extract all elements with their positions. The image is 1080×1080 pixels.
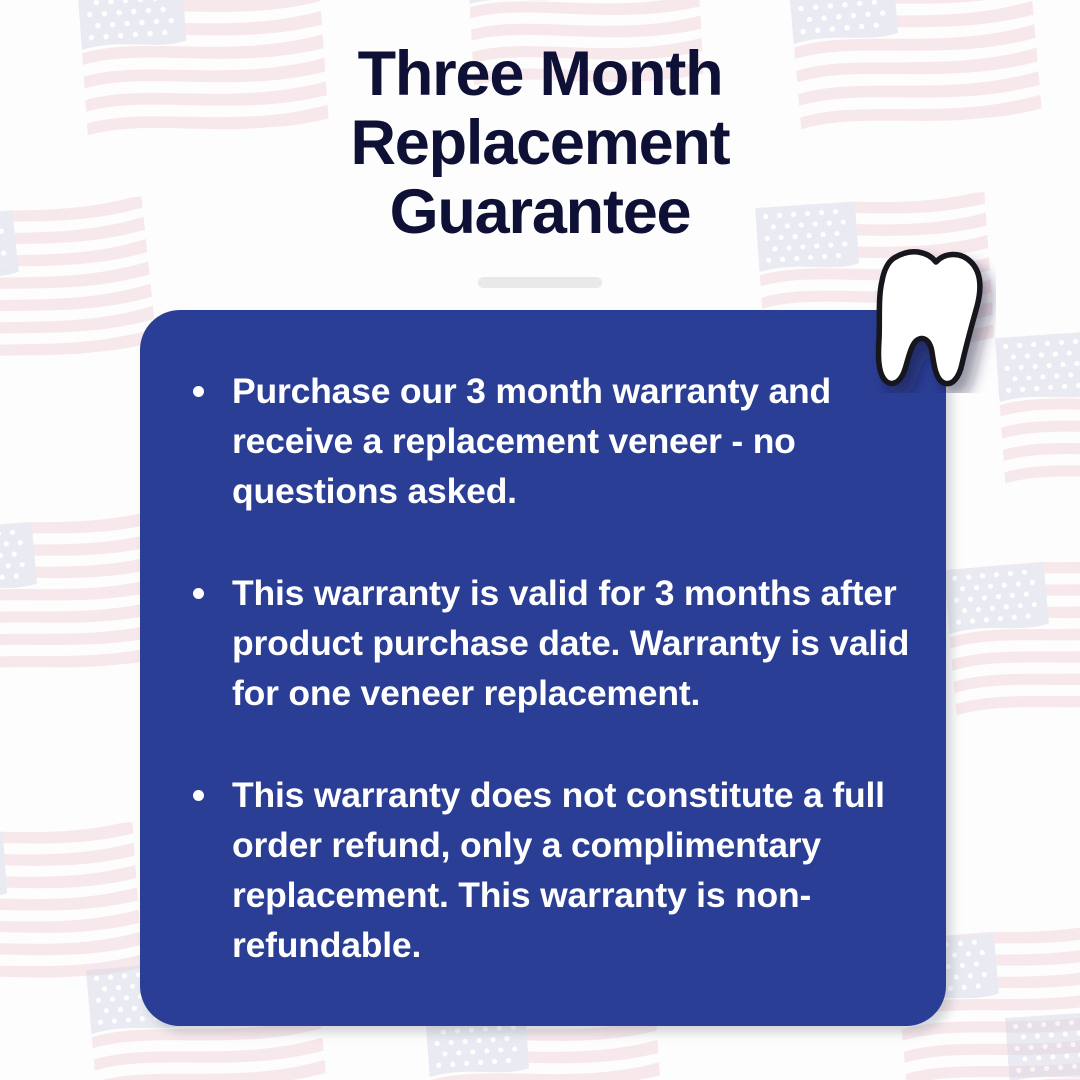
title-line-3: Guarantee: [0, 178, 1080, 247]
list-item: This warranty is valid for 3 months afte…: [166, 568, 912, 718]
bullet-dot-icon: [193, 588, 204, 599]
warranty-bullet-list: Purchase our 3 month warranty and receiv…: [166, 366, 912, 970]
list-item: This warranty does not constitute a full…: [166, 770, 912, 970]
title-line-2: Replacement: [0, 109, 1080, 178]
usa-flag-icon: [995, 322, 1080, 488]
usa-flag-icon: [1005, 1002, 1080, 1080]
bullet-dot-icon: [193, 790, 204, 801]
list-item-text: Purchase our 3 month warranty and receiv…: [232, 371, 831, 511]
usa-flag-icon: [0, 822, 143, 988]
list-item-text: This warranty does not constitute a full…: [232, 775, 885, 965]
list-item: Purchase our 3 month warranty and receiv…: [166, 366, 912, 516]
guarantee-graphic: Three Month Replacement Guarantee Purcha…: [0, 0, 1080, 1080]
usa-flag-icon: [944, 550, 1080, 719]
page-title: Three Month Replacement Guarantee: [0, 40, 1080, 247]
bullet-dot-icon: [193, 386, 204, 397]
list-item-text: This warranty is valid for 3 months afte…: [232, 573, 909, 713]
warranty-terms-card: Purchase our 3 month warranty and receiv…: [140, 310, 946, 1026]
title-line-1: Three Month: [0, 40, 1080, 109]
tooth-icon: [866, 248, 996, 393]
title-divider: [478, 277, 602, 288]
